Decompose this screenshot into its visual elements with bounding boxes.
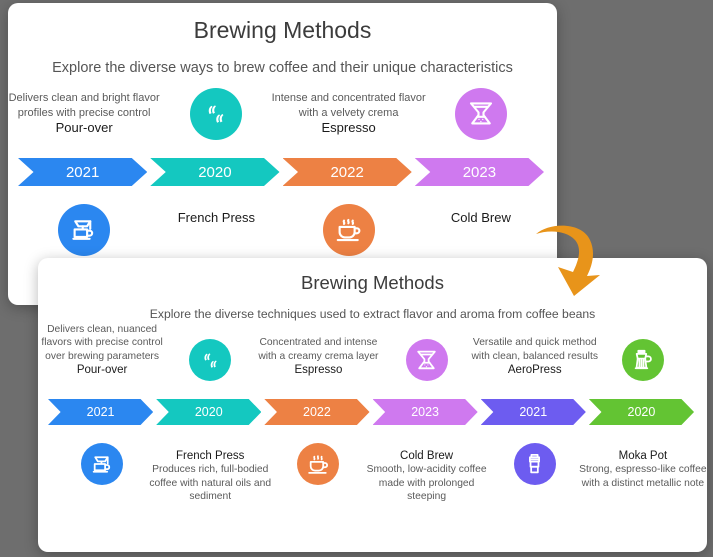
espresso-cup-icon[interactable]	[297, 443, 339, 485]
chevron-year-label: 2023	[411, 405, 439, 419]
timeline-item-cold-brew[interactable]: Cold BrewSmooth, low-acidity coffee made…	[361, 449, 493, 504]
timeline-item-moka-pot[interactable]: Moka PotStrong, espresso-like coffee wit…	[577, 449, 707, 490]
timeline-item-label: Moka Pot	[577, 449, 707, 463]
timeline-chevron-2021-0[interactable]: 2021	[18, 158, 147, 186]
timeline-chevron-2023-3[interactable]: 2023	[415, 158, 544, 186]
timeline-chevron-2020-1[interactable]: 2020	[156, 399, 261, 425]
timeline-item-description: Versatile and quick method with clean, b…	[469, 336, 601, 363]
timeline-track-back: 2021202020222023	[18, 158, 547, 186]
chevron-year-label: 2021	[519, 405, 547, 419]
timeline-item-pour-over[interactable]: Delivers clean, nuanced flavors with pre…	[38, 297, 168, 377]
timeline-item-espresso[interactable]: Intense and concentrated flavor with a v…	[268, 66, 430, 136]
timeline-item-label: French Press	[135, 210, 297, 226]
chevron-year-label: 2021	[66, 164, 99, 181]
timeline-item-description: Concentrated and intense with a creamy c…	[252, 336, 384, 363]
timeline-item-description: Strong, espresso-like coffee with a dist…	[577, 463, 707, 490]
timeline-item-french-press[interactable]: French Press	[135, 210, 297, 226]
chevron-year-label: 2020	[198, 164, 231, 181]
moka-pot-icon[interactable]	[622, 339, 664, 381]
timeline-chevron-2023-3[interactable]: 2023	[373, 399, 478, 425]
page-title-back: Brewing Methods	[8, 17, 557, 44]
timeline-item-label: Cold Brew	[361, 449, 493, 463]
timeline-item-french-press[interactable]: French PressProduces rich, full-bodied c…	[144, 449, 276, 504]
timeline-item-description: Delivers clean and bright flavor profile…	[8, 91, 165, 120]
timeline-item-label: Cold Brew	[400, 210, 557, 226]
aeropress-icon[interactable]	[514, 443, 556, 485]
timeline-item-label: Espresso	[268, 120, 430, 136]
timeline-item-label: Pour-over	[38, 363, 168, 377]
timeline-track-front: 202120202022202320212020	[48, 399, 697, 425]
chevron-year-label: 2020	[195, 405, 223, 419]
coffee-beans-icon[interactable]	[190, 88, 242, 140]
timeline-chevron-2020-5[interactable]: 2020	[589, 399, 694, 425]
chemex-dripper-icon[interactable]	[455, 88, 507, 140]
timeline-item-label: Espresso	[252, 363, 384, 377]
timeline-item-description: Smooth, low-acidity coffee made with pro…	[361, 463, 493, 504]
brewing-methods-card-front[interactable]: Brewing Methods Explore the diverse tech…	[38, 258, 707, 552]
timeline-chevron-2021-4[interactable]: 2021	[481, 399, 586, 425]
chevron-year-label: 2021	[87, 405, 115, 419]
espresso-cup-icon[interactable]	[323, 204, 375, 256]
timeline-chevron-2022-2[interactable]: 2022	[264, 399, 369, 425]
coffee-maker-icon[interactable]	[81, 443, 123, 485]
timeline-item-cold-brew[interactable]: Cold Brew	[400, 210, 557, 226]
coffee-beans-icon[interactable]	[189, 339, 231, 381]
timeline-item-label: Pour-over	[8, 120, 165, 136]
chevron-year-label: 2023	[463, 164, 496, 181]
timeline-item-description: Delivers clean, nuanced flavors with pre…	[38, 323, 168, 364]
chevron-year-label: 2022	[330, 164, 363, 181]
coffee-maker-icon[interactable]	[58, 204, 110, 256]
timeline-chevron-2022-2[interactable]: 2022	[283, 158, 412, 186]
chevron-year-label: 2022	[303, 405, 331, 419]
timeline-item-description: Intense and concentrated flavor with a v…	[268, 91, 430, 120]
timeline-item-aeropress[interactable]: Versatile and quick method with clean, b…	[469, 297, 601, 377]
timeline-item-espresso[interactable]: Concentrated and intense with a creamy c…	[252, 297, 384, 377]
timeline-back: 2021202020222023 Delivers clean and brig…	[8, 80, 557, 270]
chevron-year-label: 2020	[628, 405, 656, 419]
page-title-front: Brewing Methods	[38, 272, 707, 294]
timeline-item-label: AeroPress	[469, 363, 601, 377]
timeline-item-pour-over[interactable]: Delivers clean and bright flavor profile…	[8, 66, 165, 136]
timeline-chevron-2020-1[interactable]: 2020	[150, 158, 279, 186]
timeline-front: 202120202022202320212020 Delivers clean,…	[38, 329, 707, 529]
timeline-item-label: French Press	[144, 449, 276, 463]
timeline-chevron-2021-0[interactable]: 2021	[48, 399, 153, 425]
chemex-dripper-icon[interactable]	[406, 339, 448, 381]
timeline-item-description: Produces rich, full-bodied coffee with n…	[144, 463, 276, 504]
